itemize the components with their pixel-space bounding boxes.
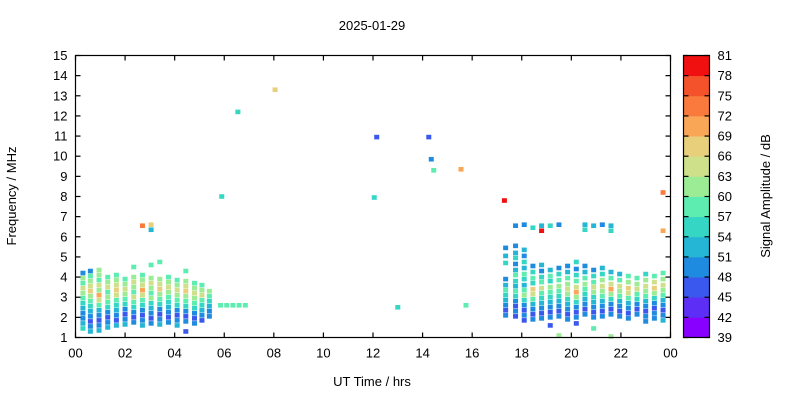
data-point bbox=[609, 276, 614, 281]
data-point bbox=[149, 227, 154, 232]
data-point bbox=[237, 303, 242, 308]
figure-root: 2025-01-29 00020406081012141618202200 12… bbox=[0, 0, 800, 400]
data-point bbox=[513, 262, 518, 267]
data-point bbox=[183, 289, 188, 294]
data-point bbox=[114, 318, 119, 323]
data-point bbox=[574, 290, 579, 295]
data-point bbox=[635, 312, 640, 317]
data-point bbox=[97, 323, 102, 328]
data-point bbox=[114, 303, 119, 308]
data-point bbox=[643, 294, 648, 299]
colorbar-tick-label: 57 bbox=[718, 209, 732, 224]
data-point bbox=[652, 311, 657, 316]
data-point bbox=[463, 303, 468, 308]
data-point bbox=[97, 318, 102, 323]
colorbar-tick-label: 42 bbox=[718, 310, 732, 325]
data-point bbox=[97, 313, 102, 318]
x-tick-label: 00 bbox=[68, 346, 82, 361]
data-point bbox=[643, 299, 648, 304]
colorbar-band bbox=[684, 257, 710, 278]
y-axis-label: Frequency / MHz bbox=[4, 147, 19, 246]
data-point bbox=[140, 308, 145, 313]
data-point bbox=[539, 291, 544, 296]
y-tick-label: 11 bbox=[54, 129, 68, 144]
data-point bbox=[565, 270, 570, 275]
data-point bbox=[123, 287, 128, 292]
data-point bbox=[626, 306, 631, 311]
data-point bbox=[395, 305, 400, 310]
data-point bbox=[643, 272, 648, 277]
data-point bbox=[88, 269, 93, 274]
data-point bbox=[609, 297, 614, 302]
data-point bbox=[192, 321, 197, 326]
data-point bbox=[157, 307, 162, 312]
data-point bbox=[617, 314, 622, 319]
data-point bbox=[429, 157, 434, 162]
data-point bbox=[97, 273, 102, 278]
data-point bbox=[565, 287, 570, 292]
data-point bbox=[565, 312, 570, 317]
data-point bbox=[80, 286, 85, 291]
data-point bbox=[582, 297, 587, 302]
data-point bbox=[123, 292, 128, 297]
data-point bbox=[166, 305, 171, 310]
data-point bbox=[530, 317, 535, 322]
data-point bbox=[199, 293, 204, 298]
data-point bbox=[166, 280, 171, 285]
data-point bbox=[88, 304, 93, 309]
data-point bbox=[539, 306, 544, 311]
data-point bbox=[503, 308, 508, 313]
data-point bbox=[97, 268, 102, 273]
data-point bbox=[149, 311, 154, 316]
data-point bbox=[582, 270, 587, 275]
data-point bbox=[503, 246, 508, 251]
data-point bbox=[600, 314, 605, 319]
data-point bbox=[199, 303, 204, 308]
data-point bbox=[574, 267, 579, 272]
data-point bbox=[539, 223, 544, 228]
colorbar-tick-label: 69 bbox=[718, 129, 732, 144]
data-point bbox=[574, 300, 579, 305]
data-point bbox=[192, 296, 197, 301]
data-point bbox=[617, 304, 622, 309]
data-point bbox=[199, 288, 204, 293]
data-point bbox=[530, 292, 535, 297]
data-point bbox=[114, 278, 119, 283]
data-point bbox=[105, 325, 110, 330]
data-point bbox=[513, 223, 518, 228]
data-point bbox=[426, 135, 431, 140]
data-point bbox=[88, 299, 93, 304]
data-point bbox=[183, 319, 188, 324]
data-point bbox=[652, 291, 657, 296]
data-point bbox=[140, 283, 145, 288]
data-point bbox=[652, 306, 657, 311]
data-point bbox=[539, 296, 544, 301]
data-point bbox=[183, 269, 188, 274]
y-tick-label: 12 bbox=[53, 108, 67, 123]
data-point bbox=[149, 316, 154, 321]
data-point bbox=[123, 312, 128, 317]
data-point bbox=[530, 225, 535, 230]
data-point bbox=[97, 308, 102, 313]
data-point bbox=[661, 303, 666, 308]
data-point bbox=[530, 270, 535, 275]
data-point bbox=[88, 284, 93, 289]
colorbar-label: Signal Amplitude / dB bbox=[758, 134, 773, 258]
data-point bbox=[661, 228, 666, 233]
data-point bbox=[140, 278, 145, 283]
data-point bbox=[140, 303, 145, 308]
y-tick-label: 4 bbox=[60, 270, 67, 285]
x-tick-label: 10 bbox=[316, 346, 330, 361]
data-point bbox=[574, 315, 579, 320]
data-point bbox=[88, 309, 93, 314]
data-point bbox=[157, 317, 162, 322]
data-point bbox=[207, 289, 212, 294]
data-point bbox=[114, 288, 119, 293]
data-point bbox=[80, 301, 85, 306]
data-point bbox=[175, 313, 180, 318]
data-point bbox=[105, 285, 110, 290]
data-point bbox=[207, 299, 212, 304]
data-point bbox=[166, 315, 171, 320]
data-point bbox=[609, 228, 614, 233]
data-point bbox=[513, 309, 518, 314]
data-point bbox=[609, 223, 614, 228]
data-point bbox=[582, 227, 587, 232]
data-point bbox=[97, 293, 102, 298]
data-point bbox=[582, 292, 587, 297]
data-point bbox=[539, 275, 544, 280]
data-point bbox=[600, 272, 605, 277]
data-point bbox=[556, 314, 561, 319]
data-point bbox=[548, 274, 553, 279]
data-point bbox=[207, 314, 212, 319]
figure-background bbox=[0, 0, 800, 400]
data-point bbox=[617, 272, 622, 277]
data-point bbox=[539, 228, 544, 233]
data-point bbox=[123, 297, 128, 302]
data-point bbox=[522, 288, 527, 293]
data-point bbox=[617, 309, 622, 314]
colorbar-tick-label: 51 bbox=[718, 249, 732, 264]
colorbar-tick-label: 45 bbox=[718, 290, 732, 305]
data-point bbox=[635, 297, 640, 302]
colorbar-band bbox=[684, 136, 710, 157]
data-point bbox=[80, 306, 85, 311]
data-point bbox=[503, 303, 508, 308]
data-point bbox=[626, 291, 631, 296]
data-point bbox=[192, 286, 197, 291]
data-point bbox=[565, 297, 570, 302]
data-point bbox=[123, 307, 128, 312]
data-point bbox=[131, 300, 136, 305]
data-point bbox=[192, 291, 197, 296]
data-point bbox=[192, 311, 197, 316]
y-tick-label: 9 bbox=[60, 169, 67, 184]
data-point bbox=[140, 223, 145, 228]
data-point bbox=[105, 305, 110, 310]
colorbar-band bbox=[684, 237, 710, 258]
data-point bbox=[609, 302, 614, 307]
data-point bbox=[166, 310, 171, 315]
data-point bbox=[88, 274, 93, 279]
data-point bbox=[513, 244, 518, 249]
x-tick-label: 12 bbox=[366, 346, 380, 361]
data-point bbox=[609, 270, 614, 275]
data-point bbox=[609, 312, 614, 317]
data-point bbox=[131, 280, 136, 285]
data-point bbox=[539, 269, 544, 274]
y-tick-label: 6 bbox=[60, 229, 67, 244]
colorbar-band bbox=[684, 156, 710, 177]
data-point bbox=[183, 304, 188, 309]
data-point bbox=[574, 321, 579, 326]
y-tick-label: 14 bbox=[53, 68, 67, 83]
data-point bbox=[431, 168, 436, 173]
data-point bbox=[617, 278, 622, 283]
data-point bbox=[140, 288, 145, 293]
data-point bbox=[548, 315, 553, 320]
data-point bbox=[591, 295, 596, 300]
data-point bbox=[503, 254, 508, 259]
data-point bbox=[199, 313, 204, 318]
data-point bbox=[617, 284, 622, 289]
data-point bbox=[183, 314, 188, 319]
data-point bbox=[502, 198, 507, 203]
data-point bbox=[626, 280, 631, 285]
data-point bbox=[591, 274, 596, 279]
data-point bbox=[617, 289, 622, 294]
data-point bbox=[556, 289, 561, 294]
data-point bbox=[574, 260, 579, 265]
data-point bbox=[643, 309, 648, 314]
data-point bbox=[105, 275, 110, 280]
data-point bbox=[503, 283, 508, 288]
data-point bbox=[149, 296, 154, 301]
data-point bbox=[539, 263, 544, 268]
data-point bbox=[105, 315, 110, 320]
data-point bbox=[513, 251, 518, 256]
data-point bbox=[530, 297, 535, 302]
y-tick-label: 3 bbox=[60, 290, 67, 305]
data-point bbox=[582, 312, 587, 317]
data-point bbox=[207, 294, 212, 299]
data-point bbox=[643, 319, 648, 324]
data-point bbox=[157, 287, 162, 292]
data-point bbox=[513, 256, 518, 261]
data-point bbox=[652, 280, 657, 285]
data-point bbox=[643, 284, 648, 289]
colorbar-tick-label: 60 bbox=[718, 189, 732, 204]
data-point bbox=[243, 303, 248, 308]
x-tick-label: 06 bbox=[217, 346, 231, 361]
data-point bbox=[609, 282, 614, 287]
data-point bbox=[105, 320, 110, 325]
data-point bbox=[166, 290, 171, 295]
x-tick-label: 04 bbox=[167, 346, 181, 361]
colorbar-tick-label: 81 bbox=[718, 48, 732, 63]
data-point bbox=[503, 293, 508, 298]
data-point bbox=[652, 286, 657, 291]
data-point bbox=[88, 279, 93, 284]
data-point bbox=[522, 272, 527, 277]
data-point bbox=[652, 274, 657, 279]
y-tick-label: 7 bbox=[60, 209, 67, 224]
data-point bbox=[522, 293, 527, 298]
data-point bbox=[374, 135, 379, 140]
data-point bbox=[574, 295, 579, 300]
colorbar-band bbox=[684, 217, 710, 238]
data-point bbox=[574, 310, 579, 315]
data-point bbox=[513, 289, 518, 294]
y-tick-label: 8 bbox=[60, 189, 67, 204]
data-point bbox=[149, 286, 154, 291]
data-point bbox=[149, 281, 154, 286]
data-point bbox=[591, 315, 596, 320]
data-point bbox=[199, 283, 204, 288]
data-point bbox=[661, 293, 666, 298]
data-point bbox=[149, 291, 154, 296]
data-point bbox=[591, 300, 596, 305]
data-point bbox=[123, 317, 128, 322]
data-point bbox=[548, 223, 553, 228]
data-point bbox=[556, 266, 561, 271]
data-point bbox=[565, 302, 570, 307]
data-point bbox=[88, 319, 93, 324]
data-point bbox=[123, 322, 128, 327]
data-point bbox=[522, 222, 527, 227]
ionogram-figure: 2025-01-29 00020406081012141618202200 12… bbox=[0, 0, 800, 400]
data-point bbox=[565, 264, 570, 269]
data-point bbox=[635, 276, 640, 281]
data-point bbox=[149, 276, 154, 281]
data-point bbox=[565, 292, 570, 297]
data-point bbox=[539, 316, 544, 321]
data-point bbox=[574, 279, 579, 284]
colorbar-band bbox=[684, 277, 710, 298]
data-point bbox=[97, 328, 102, 333]
y-tick-label: 2 bbox=[60, 310, 67, 325]
data-point bbox=[661, 271, 666, 276]
data-point bbox=[582, 222, 587, 227]
data-point bbox=[157, 292, 162, 297]
data-point bbox=[626, 316, 631, 321]
data-point bbox=[661, 298, 666, 303]
data-point bbox=[80, 296, 85, 301]
data-point bbox=[80, 311, 85, 316]
data-point bbox=[626, 311, 631, 316]
data-point bbox=[513, 294, 518, 299]
data-point bbox=[192, 306, 197, 311]
data-point bbox=[166, 295, 171, 300]
data-point bbox=[609, 307, 614, 312]
data-point bbox=[548, 279, 553, 284]
data-point bbox=[131, 290, 136, 295]
data-point bbox=[574, 273, 579, 278]
data-point bbox=[609, 287, 614, 292]
data-point bbox=[140, 318, 145, 323]
data-point bbox=[105, 290, 110, 295]
data-point bbox=[643, 304, 648, 309]
y-tick-label: 5 bbox=[60, 249, 67, 264]
data-point bbox=[88, 289, 93, 294]
data-point bbox=[199, 308, 204, 313]
data-point bbox=[157, 302, 162, 307]
data-point bbox=[183, 279, 188, 284]
x-tick-label: 02 bbox=[118, 346, 132, 361]
data-point bbox=[609, 292, 614, 297]
data-point bbox=[88, 294, 93, 299]
data-point bbox=[661, 318, 666, 323]
data-point bbox=[556, 222, 561, 227]
data-point bbox=[157, 312, 162, 317]
data-point bbox=[114, 293, 119, 298]
x-axis-label: UT Time / hrs bbox=[333, 374, 411, 389]
data-point bbox=[459, 167, 464, 172]
data-point bbox=[105, 295, 110, 300]
data-point bbox=[635, 302, 640, 307]
data-point bbox=[513, 284, 518, 289]
data-point bbox=[192, 301, 197, 306]
data-point bbox=[149, 222, 154, 227]
data-point bbox=[157, 260, 162, 265]
data-point bbox=[140, 273, 145, 278]
data-point bbox=[97, 303, 102, 308]
data-point bbox=[643, 278, 648, 283]
data-point bbox=[140, 298, 145, 303]
data-point bbox=[114, 308, 119, 313]
data-point bbox=[88, 329, 93, 334]
data-point bbox=[207, 304, 212, 309]
data-point bbox=[273, 87, 278, 92]
data-point bbox=[503, 298, 508, 303]
data-point bbox=[591, 290, 596, 295]
data-point bbox=[591, 280, 596, 285]
data-point bbox=[582, 287, 587, 292]
data-point bbox=[183, 329, 188, 334]
data-point bbox=[192, 316, 197, 321]
data-point bbox=[218, 303, 223, 308]
data-point bbox=[105, 300, 110, 305]
data-point bbox=[513, 268, 518, 273]
data-point bbox=[626, 296, 631, 301]
data-point bbox=[530, 281, 535, 286]
data-point bbox=[175, 288, 180, 293]
data-point bbox=[183, 294, 188, 299]
data-point bbox=[600, 304, 605, 309]
data-point bbox=[617, 299, 622, 304]
data-point bbox=[114, 323, 119, 328]
data-point bbox=[661, 288, 666, 293]
data-point bbox=[140, 313, 145, 318]
data-point bbox=[522, 254, 527, 259]
data-point bbox=[548, 310, 553, 315]
data-point bbox=[643, 314, 648, 319]
data-point bbox=[556, 284, 561, 289]
data-point bbox=[105, 310, 110, 315]
data-point bbox=[539, 311, 544, 316]
data-point bbox=[80, 321, 85, 326]
data-point bbox=[635, 292, 640, 297]
data-point bbox=[114, 313, 119, 318]
data-point bbox=[157, 282, 162, 287]
data-point bbox=[626, 286, 631, 291]
data-point bbox=[219, 194, 224, 199]
data-point bbox=[574, 285, 579, 290]
